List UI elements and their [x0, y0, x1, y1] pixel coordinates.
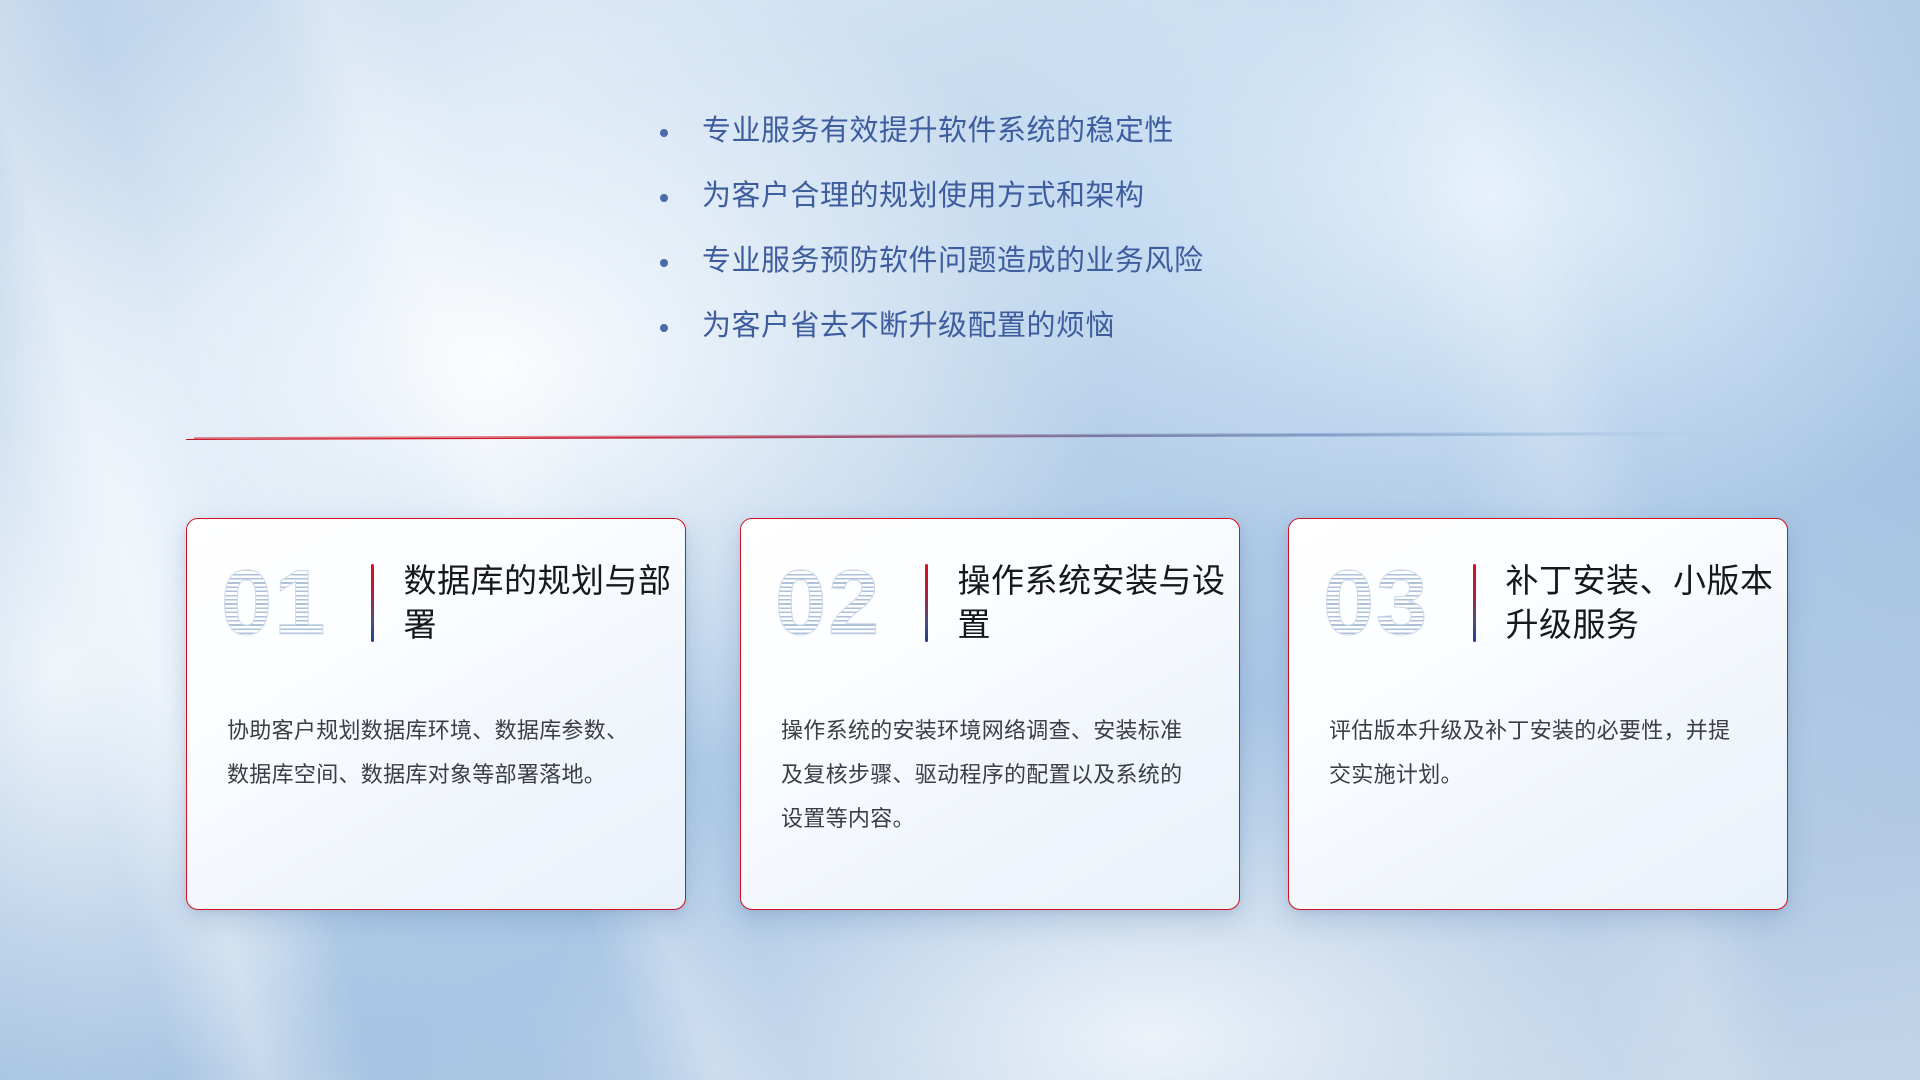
benefits-bullet-list: 专业服务有效提升软件系统的稳定性 为客户合理的规划使用方式和架构 专业服务预防软…	[660, 112, 1420, 372]
bullet-item: 为客户合理的规划使用方式和架构	[660, 177, 1420, 242]
service-card[interactable]: 01 数据库的规划与部署 协助客户规划数据库环境、数据库参数、数据库空间、数据库…	[186, 518, 686, 910]
service-card-list: 01 数据库的规划与部署 协助客户规划数据库环境、数据库参数、数据库空间、数据库…	[0, 518, 1920, 928]
service-card-body: 评估版本升级及补丁安装的必要性，并提交实施计划。	[1289, 687, 1787, 797]
service-card[interactable]: 03 补丁安装、小版本升级服务 评估版本升级及补丁安装的必要性，并提交实施计划。	[1288, 518, 1788, 910]
bullet-item: 为客户省去不断升级配置的烦恼	[660, 307, 1420, 372]
bullet-item: 专业服务预防软件问题造成的业务风险	[660, 242, 1420, 307]
service-card-divider-rule	[925, 564, 928, 642]
section-divider	[186, 428, 1726, 440]
bullet-dot-icon	[660, 324, 668, 332]
bullet-dot-icon	[660, 259, 668, 267]
bullet-item-label: 专业服务预防软件问题造成的业务风险	[702, 242, 1204, 281]
service-card-body: 协助客户规划数据库环境、数据库参数、数据库空间、数据库对象等部署落地。	[187, 687, 685, 797]
service-card-divider-rule	[1473, 564, 1476, 642]
bullet-item-label: 为客户合理的规划使用方式和架构	[702, 177, 1145, 216]
service-card-title: 数据库的规划与部署	[404, 559, 686, 647]
service-card-header: 02 操作系统安装与设置	[741, 519, 1239, 687]
bullet-item-label: 专业服务有效提升软件系统的稳定性	[702, 112, 1174, 151]
section-divider-shape	[186, 428, 1726, 440]
bullet-dot-icon	[660, 129, 668, 137]
bullet-item-label: 为客户省去不断升级配置的烦恼	[702, 307, 1115, 346]
service-card[interactable]: 02 操作系统安装与设置 操作系统的安装环境网络调查、安装标准及复核步骤、驱动程…	[740, 518, 1240, 910]
service-card-title: 操作系统安装与设置	[958, 559, 1240, 647]
service-card-divider-rule	[371, 564, 374, 642]
service-card-number: 02	[775, 557, 925, 649]
service-card-body: 操作系统的安装环境网络调查、安装标准及复核步骤、驱动程序的配置以及系统的设置等内…	[741, 687, 1239, 841]
service-card-number: 01	[221, 557, 371, 649]
service-card-number: 03	[1323, 557, 1473, 649]
service-card-header: 03 补丁安装、小版本升级服务	[1289, 519, 1787, 687]
service-card-title: 补丁安装、小版本升级服务	[1506, 559, 1788, 647]
service-card-header: 01 数据库的规划与部署	[187, 519, 685, 687]
bullet-dot-icon	[660, 194, 668, 202]
bullet-item: 专业服务有效提升软件系统的稳定性	[660, 112, 1420, 177]
